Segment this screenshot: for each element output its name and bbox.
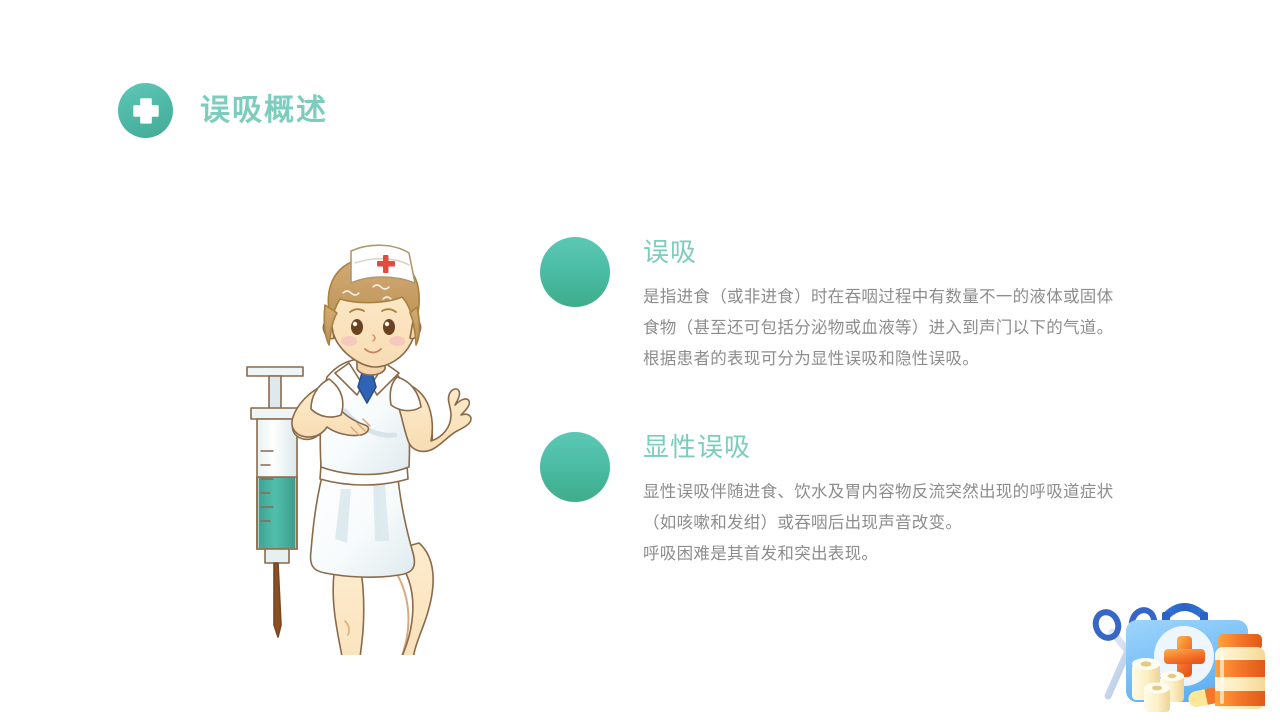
paragraph-line: 显性误吸伴随进食、饮水及胃内容物反流突然出现的呼吸道症状: [643, 477, 1190, 508]
section-wuxi: 误吸 是指进食（或非进食）时在吞咽过程中有数量不一的液体或固体 食物（甚至还可包…: [540, 232, 1190, 375]
bullet-circle-1: [540, 237, 610, 307]
paragraph-line: 是指进食（或非进食）时在吞咽过程中有数量不一的液体或固体: [643, 282, 1190, 313]
section-paragraph: 显性误吸伴随进食、饮水及胃内容物反流突然出现的呼吸道症状 （如咳嗽和发绀）或吞咽…: [643, 477, 1190, 570]
page-title: 误吸概述: [200, 96, 328, 126]
medical-cross-badge-icon: [118, 83, 173, 138]
section-xianxing-wuxi: 显性误吸 显性误吸伴随进食、饮水及胃内容物反流突然出现的呼吸道症状 （如咳嗽和发…: [540, 427, 1190, 570]
cartoon-nurse-with-syringe-illustration: [233, 215, 473, 655]
bullet-circle-2: [540, 432, 610, 502]
paragraph-line: 食物（甚至还可包括分泌物或血液等）进入到声门以下的气道。: [643, 313, 1190, 344]
section-heading: 误吸: [643, 232, 1190, 265]
paragraph-line: 呼吸困难是其首发和突出表现。: [643, 539, 1190, 570]
page-title-row: 误吸概述: [118, 83, 328, 138]
paragraph-line: （如咳嗽和发绀）或吞咽后出现声音改变。: [643, 508, 1190, 539]
first-aid-kit-illustration: [1088, 592, 1280, 722]
slide-canvas: 误吸概述: [0, 0, 1280, 720]
paragraph-line: 根据患者的表现可分为显性误吸和隐性误吸。: [643, 344, 1190, 375]
section-paragraph: 是指进食（或非进食）时在吞咽过程中有数量不一的液体或固体 食物（甚至还可包括分泌…: [643, 282, 1190, 375]
content-column: 误吸 是指进食（或非进食）时在吞咽过程中有数量不一的液体或固体 食物（甚至还可包…: [540, 232, 1190, 570]
section-heading: 显性误吸: [643, 427, 1190, 460]
